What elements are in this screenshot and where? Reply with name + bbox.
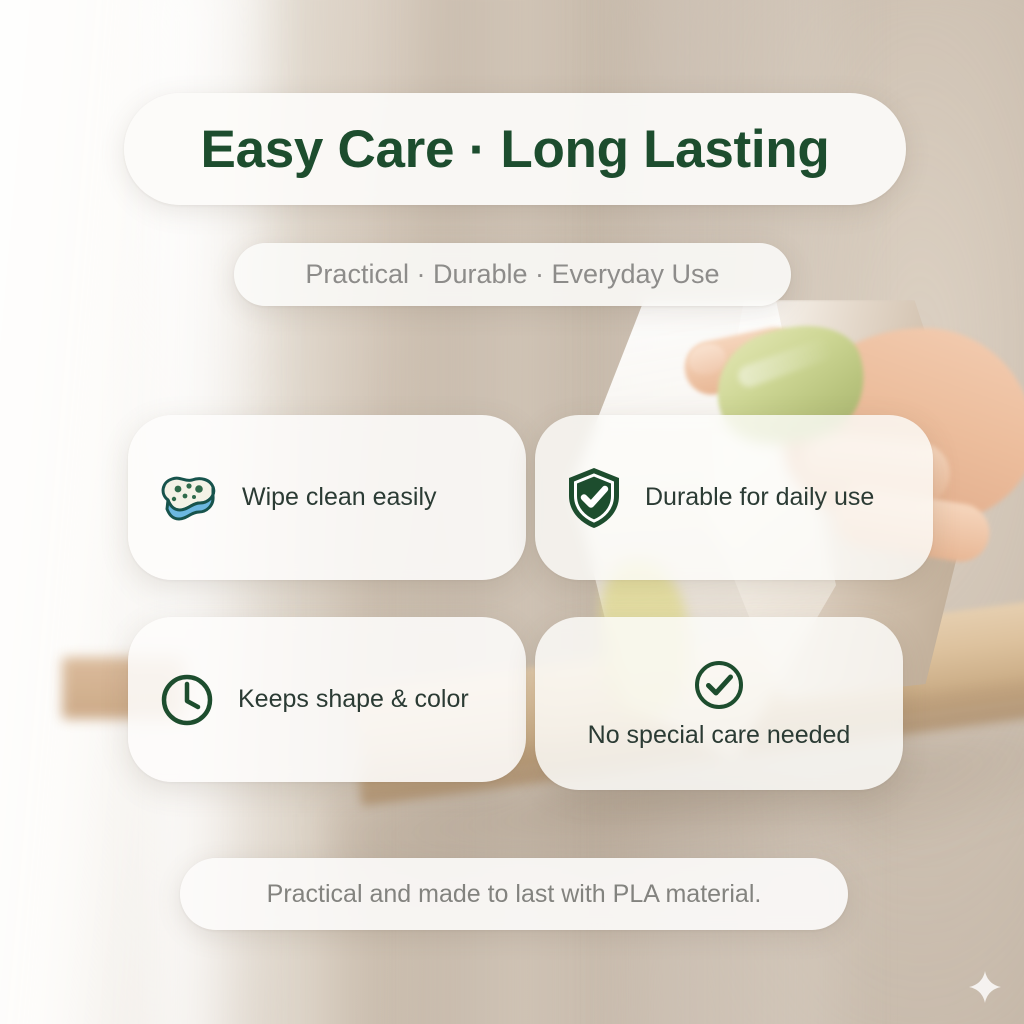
subtitle-pill: Practical · Durable · Everyday Use [234, 243, 791, 306]
footer-caption: Practical and made to last with PLA mate… [267, 880, 762, 909]
clock-icon [158, 671, 216, 729]
page-title: Easy Care · Long Lasting [201, 119, 830, 180]
feature-card-durable[interactable]: Durable for daily use [535, 415, 933, 580]
feature-label: Wipe clean easily [242, 483, 437, 512]
feature-card-keeps-shape[interactable]: Keeps shape & color [128, 617, 526, 782]
feature-card-no-care[interactable]: No special care needed [535, 617, 903, 790]
feature-label: No special care needed [588, 721, 851, 750]
title-pill: Easy Care · Long Lasting [124, 93, 906, 205]
feature-label: Durable for daily use [645, 483, 874, 512]
sponge-icon [158, 470, 220, 526]
promo-graphic: Easy Care · Long Lasting Practical · Dur… [0, 0, 1024, 1024]
page-subtitle: Practical · Durable · Everyday Use [305, 259, 719, 290]
caption-pill: Practical and made to last with PLA mate… [180, 858, 848, 930]
check-circle-icon [691, 657, 747, 713]
feature-label: Keeps shape & color [238, 685, 469, 714]
shield-check-icon [565, 466, 623, 530]
feature-card-wipe-clean[interactable]: Wipe clean easily [128, 415, 526, 580]
sparkle-icon [968, 970, 1002, 1004]
